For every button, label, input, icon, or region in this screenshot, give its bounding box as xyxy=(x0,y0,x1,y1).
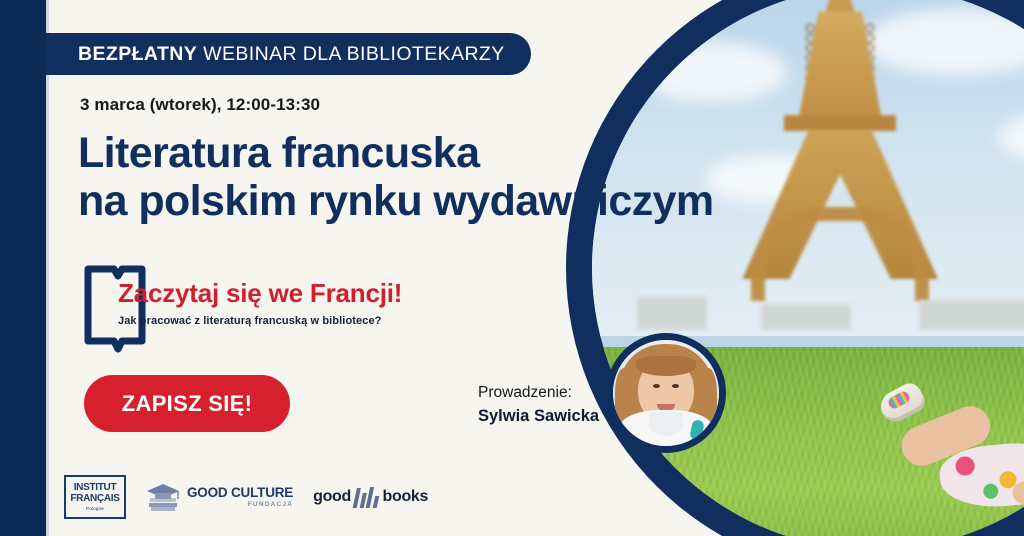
webinar-promo-banner: BEZPŁATNY WEBINAR DLA BIBLIOTEKARZY 3 ma… xyxy=(0,0,1024,536)
good-culture-name: GOOD CULTURE xyxy=(187,486,293,500)
title-line-2: na polskim rynku wydawniczym xyxy=(78,177,714,225)
logo-goodbooks: good books xyxy=(313,486,428,508)
free-webinar-badge: BEZPŁATNY WEBINAR DLA BIBLIOTEKARZY xyxy=(46,33,531,75)
event-datetime: 3 marca (wtorek), 12:00-13:30 xyxy=(80,95,320,115)
book-spines-icon xyxy=(353,486,381,508)
hero-photo-composition xyxy=(566,0,1024,536)
graduation-cap-books-icon xyxy=(146,481,180,513)
tagline: Zaczytaj się we Francji! xyxy=(118,278,402,309)
goodbooks-word-1: good xyxy=(313,488,351,506)
institut-line-3: Pologne xyxy=(86,506,104,511)
presenter-role-label: Prowadzenie: xyxy=(478,381,599,404)
girl-reading xyxy=(874,382,1024,522)
institut-line-1: INSTITUT xyxy=(74,483,117,493)
institut-line-2: FRANÇAIS xyxy=(70,494,119,504)
title-line-1: Literatura francuska xyxy=(78,129,479,177)
paris-photo xyxy=(592,0,1024,536)
presenter-avatar xyxy=(606,333,726,453)
logo-institut-francais: INSTITUT FRANÇAIS Pologne xyxy=(64,475,126,519)
subtagline: Jak pracować z literaturą francuską w bi… xyxy=(118,315,382,327)
good-culture-sub: FUNDACJA xyxy=(248,501,293,508)
presenter-credit: Prowadzenie: Sylwia Sawicka xyxy=(478,381,599,429)
page-title: Literatura francuska na polskim rynku wy… xyxy=(78,129,714,225)
eiffel-tower xyxy=(735,0,945,336)
left-stripe-hairline xyxy=(46,0,49,536)
distant-building xyxy=(761,304,851,330)
goodbooks-word-2: books xyxy=(383,488,429,506)
badge-strong-text: BEZPŁATNY xyxy=(78,43,197,66)
logo-good-culture: GOOD CULTURE FUNDACJA xyxy=(146,481,293,513)
left-navy-stripe xyxy=(0,0,46,536)
partner-logos: INSTITUT FRANÇAIS Pologne GOOD CULTURE F… xyxy=(64,474,428,520)
distant-building xyxy=(919,300,1024,330)
distant-building xyxy=(637,296,707,330)
badge-rest-text: WEBINAR DLA BIBLIOTEKARZY xyxy=(203,43,505,66)
presenter-name: Sylwia Sawicka xyxy=(478,404,599,429)
signup-button[interactable]: ZAPISZ SIĘ! xyxy=(84,375,290,432)
